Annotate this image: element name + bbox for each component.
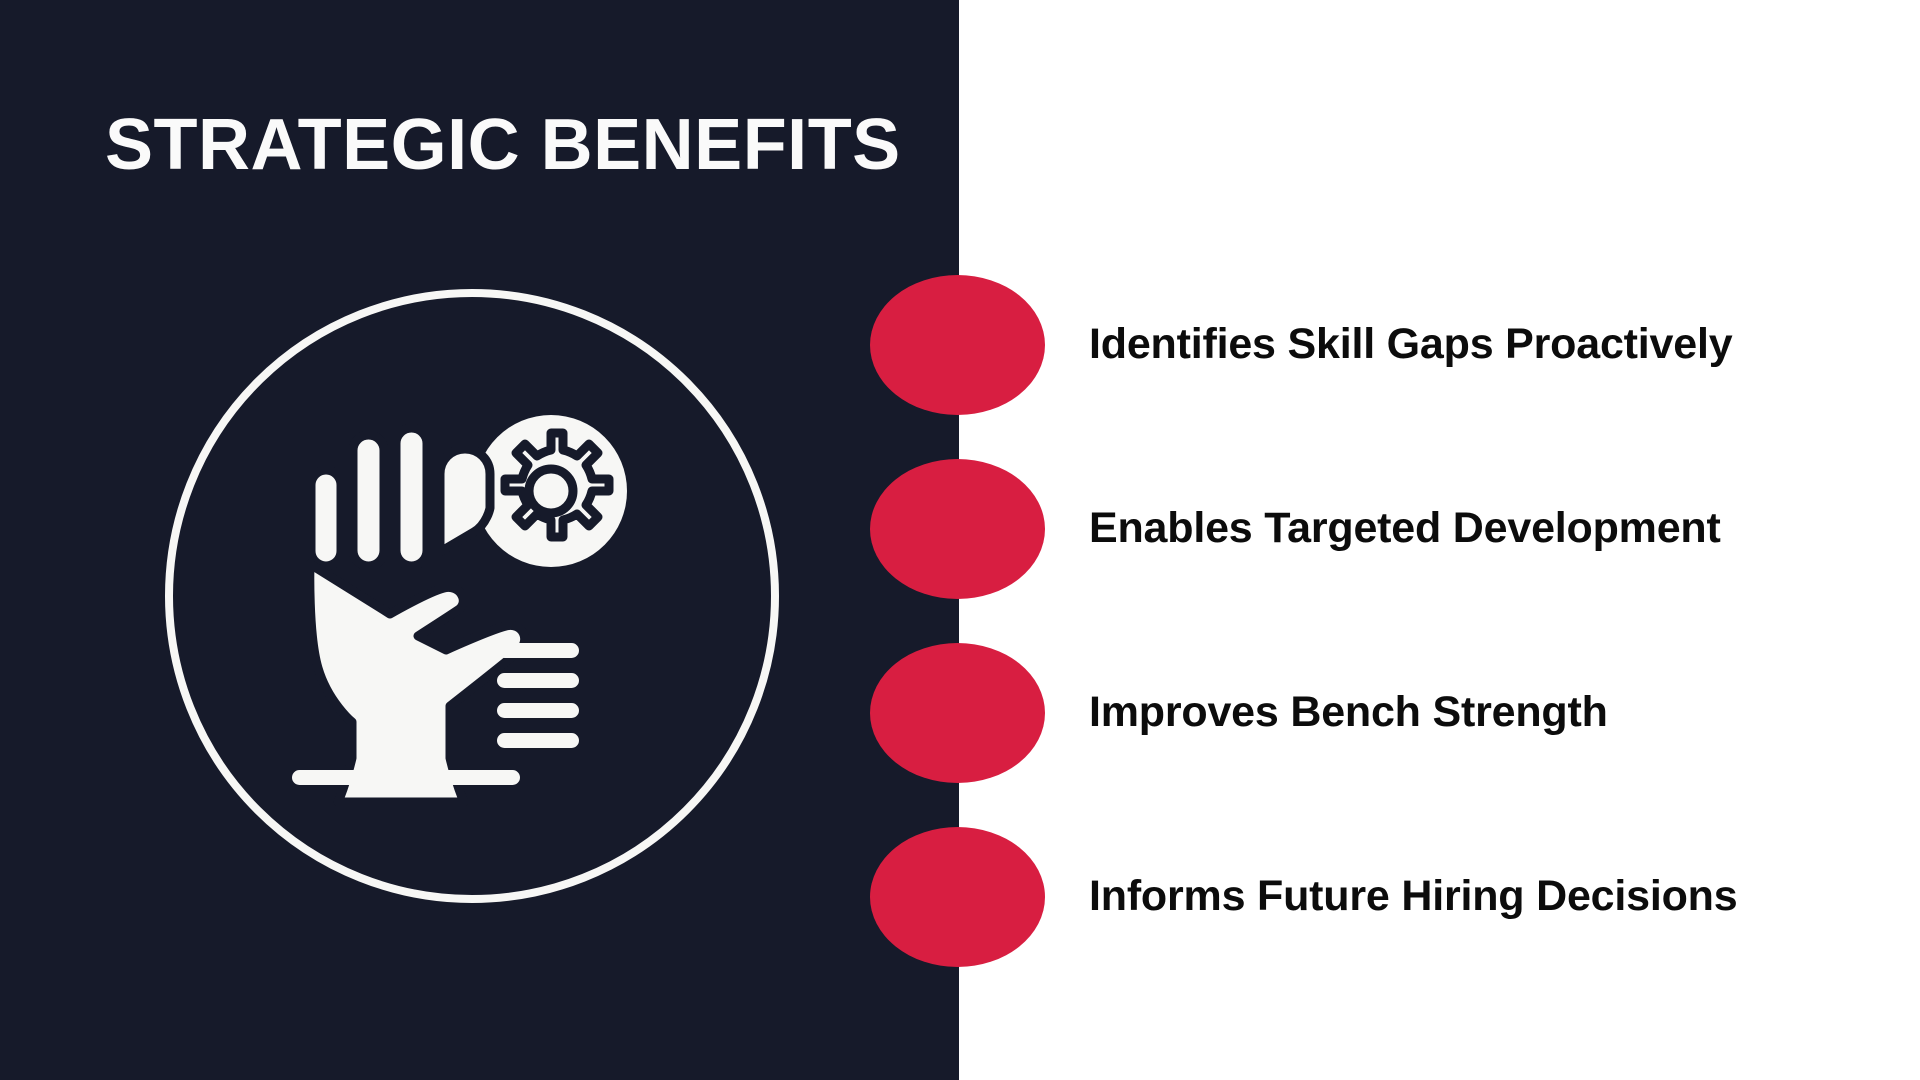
ellipse-bullet-icon bbox=[870, 643, 1045, 783]
ellipse-bullet-icon bbox=[870, 827, 1045, 967]
list-item: Improves Bench Strength bbox=[870, 625, 1900, 800]
list-item: Informs Future Hiring Decisions bbox=[870, 809, 1900, 984]
benefit-label: Enables Targeted Development bbox=[1089, 504, 1900, 553]
list-item: Identifies Skill Gaps Proactively bbox=[870, 257, 1900, 432]
benefits-list: Identifies Skill Gaps Proactively Enable… bbox=[0, 0, 1920, 1080]
benefit-label: Identifies Skill Gaps Proactively bbox=[1089, 320, 1900, 369]
ellipse-bullet-icon bbox=[870, 459, 1045, 599]
ellipse-bullet-icon bbox=[870, 275, 1045, 415]
benefit-label: Improves Bench Strength bbox=[1089, 688, 1900, 737]
slide-canvas: STRATEGIC BENEFITS bbox=[0, 0, 1920, 1080]
list-item: Enables Targeted Development bbox=[870, 441, 1900, 616]
benefit-label: Informs Future Hiring Decisions bbox=[1089, 872, 1900, 921]
